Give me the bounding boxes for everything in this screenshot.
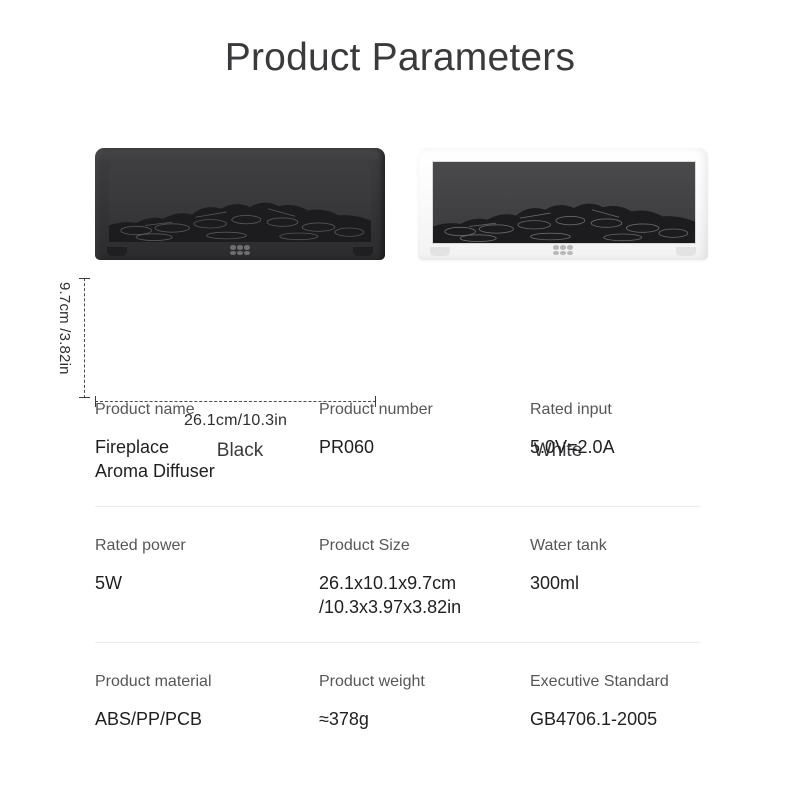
spec-label: Rated input: [530, 400, 615, 419]
log-bed-icon: [433, 193, 695, 243]
spec-label: Water tank: [530, 536, 607, 555]
spec-value: ≈378g: [319, 707, 425, 731]
foot-right-black: [353, 247, 373, 256]
fireplace-unit-black: [95, 148, 385, 260]
spec-cell: Product name Fireplace Aroma Diffuser: [95, 400, 215, 484]
spec-value: 5.0V=2.0A: [530, 435, 615, 459]
spec-value: ABS/PP/PCB: [95, 707, 212, 731]
dimension-cap-top: [79, 278, 90, 279]
spec-cell: Product Size 26.1x10.1x9.7cm /10.3x3.97x…: [319, 536, 461, 620]
spec-value: 5W: [95, 571, 186, 595]
spec-cell: Product material ABS/PP/PCB: [95, 672, 212, 731]
foot-left-black: [107, 247, 127, 256]
spec-value: Fireplace Aroma Diffuser: [95, 435, 215, 484]
foot-left-white: [430, 247, 450, 256]
spec-label: Product material: [95, 672, 212, 691]
control-dots-black[interactable]: [230, 245, 250, 255]
foot-right-white: [676, 247, 696, 256]
spec-label: Rated power: [95, 536, 186, 555]
spec-label: Product Size: [319, 536, 461, 555]
spec-cell: Product number PR060: [319, 400, 433, 459]
height-dimension-line: [84, 278, 85, 398]
spec-cell: Rated power 5W: [95, 536, 186, 595]
spec-value: 300ml: [530, 571, 607, 595]
spec-value: PR060: [319, 435, 433, 459]
spec-value: GB4706.1-2005: [530, 707, 669, 731]
spec-cell: Product weight ≈378g: [319, 672, 425, 731]
specification-table: Product name Fireplace Aroma Diffuser Pr…: [95, 400, 700, 778]
table-row: Product name Fireplace Aroma Diffuser Pr…: [95, 400, 700, 506]
spec-cell: Rated input 5.0V=2.0A: [530, 400, 615, 459]
spec-value: 26.1x10.1x9.7cm /10.3x3.97x3.82in: [319, 571, 461, 620]
spec-label: Product number: [319, 400, 433, 419]
spec-label: Product name: [95, 400, 215, 419]
dimension-cap-bottom: [79, 397, 90, 398]
log-bed-icon: [109, 192, 371, 242]
height-dimension-label: 9.7cm /3.82in: [56, 282, 73, 375]
spec-label: Product weight: [319, 672, 425, 691]
page-title: Product Parameters: [0, 36, 800, 80]
spec-cell: Executive Standard GB4706.1-2005: [530, 672, 669, 731]
table-row: Rated power 5W Product Size 26.1x10.1x9.…: [95, 506, 700, 642]
table-row: Product material ABS/PP/PCB Product weig…: [95, 642, 700, 778]
fireplace-unit-white: [418, 148, 708, 260]
spec-cell: Water tank 300ml: [530, 536, 607, 595]
fireplace-window-black: [109, 161, 371, 242]
control-dots-white[interactable]: [553, 245, 573, 255]
fireplace-window-white: [432, 161, 696, 244]
spec-label: Executive Standard: [530, 672, 669, 691]
product-showcase: 9.7cm /3.82in 26.1cm/10.3in Black White: [0, 130, 800, 350]
dimension-dash-line: [84, 278, 85, 398]
